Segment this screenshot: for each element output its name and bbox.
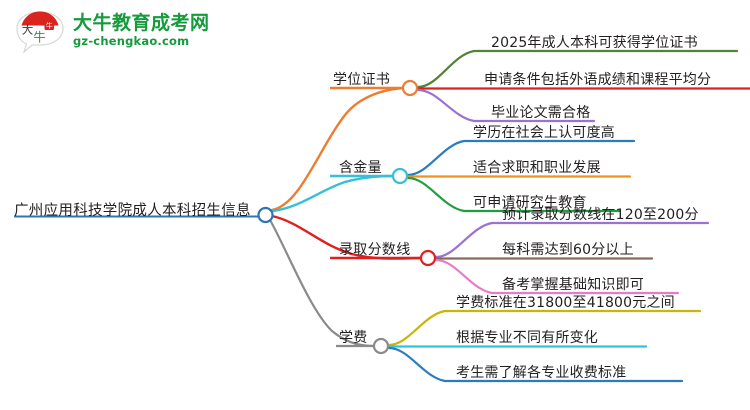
leaf-label-b1-c2[interactable]: 申请条件包括外语成绩和课程平均分 (484, 69, 711, 89)
leaf-label-b3-c1[interactable]: 预计录取分数线在120至200分 (502, 204, 699, 224)
leaf-label-b1-c1[interactable]: 2025年成人本科可获得学位证书 (491, 32, 698, 52)
leaf-label-b4-c3[interactable]: 考生需了解各专业收费标准 (456, 362, 626, 382)
leaf-label-b2-c2[interactable]: 适合求职和职业发展 (473, 157, 601, 177)
branch-2-node-circle[interactable] (393, 169, 407, 183)
branch-3-node-circle[interactable] (421, 251, 435, 265)
leaf-label-b2-c1[interactable]: 学历在社会上认可度高 (473, 122, 615, 142)
branch-label-xuefei[interactable]: 学费 (339, 327, 368, 347)
leaf-label-b4-c1[interactable]: 学费标准在31800至41800元之间 (456, 292, 675, 312)
branch-label-hanjinliang[interactable]: 含金量 (339, 157, 382, 177)
edge-root-to-branch-1 (272, 88, 404, 210)
branch-label-luqufenshuxian[interactable]: 录取分数线 (339, 239, 411, 259)
root-node-circle[interactable] (259, 208, 273, 222)
leaf-label-b3-c2[interactable]: 每科需达到60分以上 (502, 239, 634, 259)
branch-label-xueweizhengshu[interactable]: 学位证书 (333, 69, 390, 89)
root-node-label[interactable]: 广州应用科技学院成人本科招生信息 (14, 199, 251, 220)
branch-1-node-circle[interactable] (403, 81, 417, 95)
leaf-label-b4-c2[interactable]: 根据专业不同有所变化 (456, 327, 598, 347)
leaf-label-b1-c3[interactable]: 毕业论文需合格 (491, 102, 590, 122)
leaf-label-b3-c3[interactable]: 备考掌握基础知识即可 (502, 274, 644, 294)
edge-root-to-branch-2 (272, 176, 394, 211)
mindmap-canvas: 牛 大 牛 大牛教育成考网 gz-chengkao.com (0, 0, 750, 410)
branch-4-node-circle[interactable] (374, 339, 388, 353)
